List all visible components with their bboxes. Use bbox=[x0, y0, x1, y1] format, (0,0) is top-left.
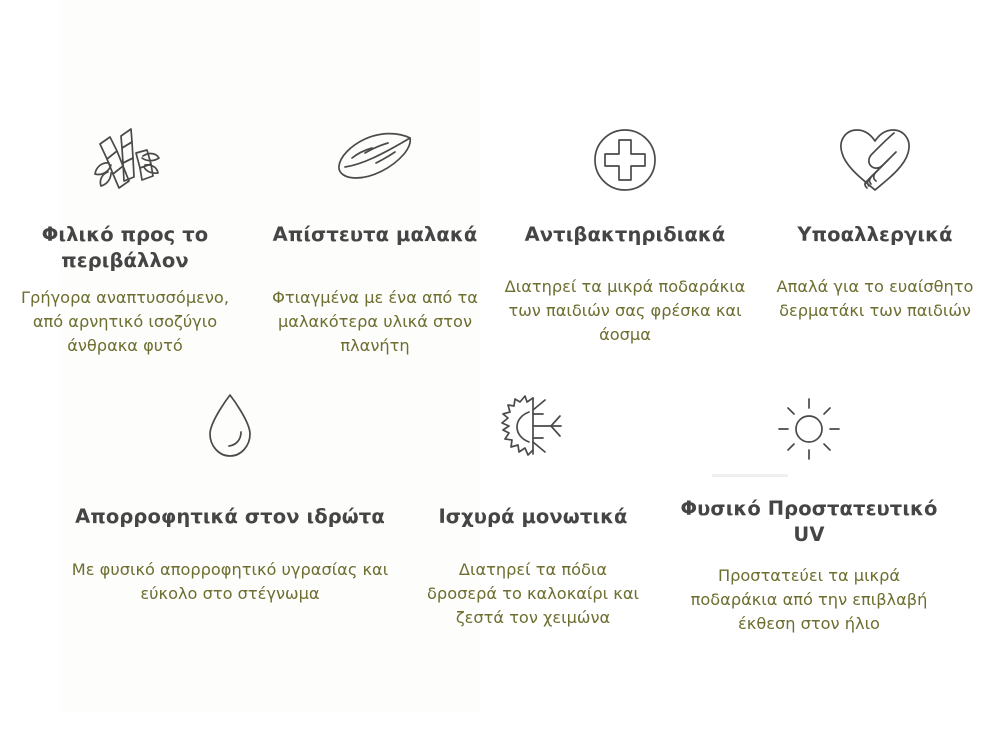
feature-description: Με φυσικό απορροφητικό υγρασίας και εύκο… bbox=[60, 558, 400, 606]
feature-title: Ισχυρά μονωτικά bbox=[413, 504, 653, 530]
feature-description: Διατηρεί τα μικρά ποδαράκια των παιδιών … bbox=[501, 275, 749, 347]
feature-title: Απίστευτα μαλακά bbox=[257, 222, 493, 248]
feature-row-bottom: Απορροφητικά στον ιδρώτα Με φυσικό απορρ… bbox=[0, 382, 1000, 636]
feature-title: Αντιβακτηριδιακά bbox=[501, 222, 749, 248]
sun-snowflake-icon bbox=[499, 382, 567, 462]
feature-card-hypoallergenic[interactable]: Υποαλλεργικά Απαλά για το ευαίσθητο δερμ… bbox=[750, 104, 1000, 358]
feature-card-eco-friendly[interactable]: Φιλικό προς το περιβάλλον Γρήγορα αναπτυ… bbox=[0, 104, 250, 358]
heart-handshake-icon bbox=[836, 104, 914, 196]
feature-card-soft[interactable]: Απίστευτα μαλακά Φτιαγμένα με ένα από τα… bbox=[250, 104, 500, 358]
feature-description: Γρήγορα αναπτυσσόμενο, από αρνητικό ισοζ… bbox=[11, 286, 239, 358]
water-droplet-icon bbox=[201, 382, 259, 462]
faint-divider-rule bbox=[712, 474, 788, 477]
feature-description: Φτιαγμένα με ένα από τα μαλακότερα υλικά… bbox=[271, 286, 479, 358]
feature-description: Διατηρεί τα πόδια δροσερά το καλοκαίρι κ… bbox=[426, 558, 640, 630]
sun-icon bbox=[776, 382, 842, 462]
feature-grid-page: Φιλικό προς το περιβάλλον Γρήγορα αναπτυ… bbox=[0, 0, 1000, 750]
leaf-icon bbox=[332, 104, 418, 196]
feature-row-top: Φιλικό προς το περιβάλλον Γρήγορα αναπτυ… bbox=[0, 104, 1000, 358]
feature-card-uv-protection[interactable]: Φυσικό Προστατευτικό UV Προστατεύει τα μ… bbox=[664, 382, 954, 636]
feature-card-antibacterial[interactable]: Αντιβακτηριδιακά Διατηρεί τα μικρά ποδαρ… bbox=[500, 104, 750, 358]
feature-title: Φιλικό προς το περιβάλλον bbox=[25, 222, 225, 274]
feature-title: Υποαλλεργικά bbox=[760, 222, 990, 248]
feature-description: Προστατεύει τα μικρά ποδαράκια από την ε… bbox=[681, 564, 937, 636]
medical-cross-circle-icon bbox=[589, 104, 661, 196]
bamboo-icon bbox=[86, 104, 164, 196]
feature-title: Απορροφητικά στον ιδρώτα bbox=[65, 504, 395, 530]
feature-title: Φυσικό Προστατευτικό UV bbox=[669, 496, 949, 548]
feature-card-moisture-wicking[interactable]: Απορροφητικά στον ιδρώτα Με φυσικό απορρ… bbox=[58, 382, 402, 636]
feature-description: Απαλά για το ευαίσθητο δερματάκι των παι… bbox=[764, 275, 986, 323]
feature-card-insulating[interactable]: Ισχυρά μονωτικά Διατηρεί τα πόδια δροσερ… bbox=[402, 382, 664, 636]
